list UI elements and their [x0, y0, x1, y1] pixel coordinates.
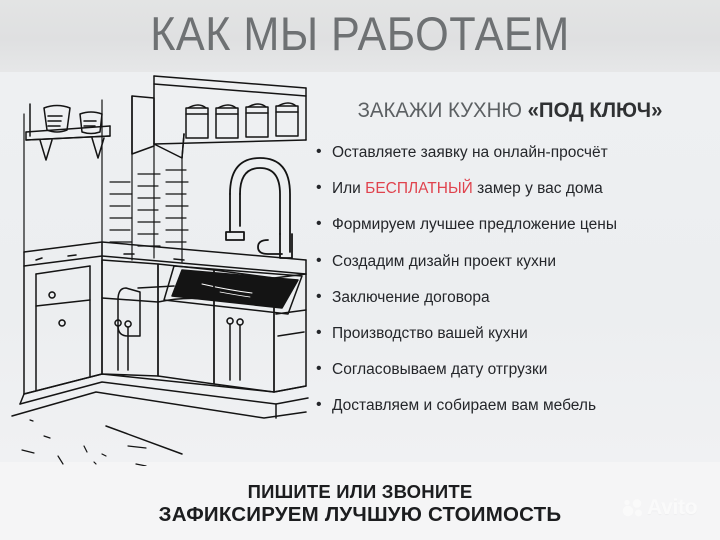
subtitle-bold: «ПОД КЛЮЧ»: [528, 99, 663, 122]
avito-logo-icon: [622, 498, 644, 518]
floor: [12, 374, 308, 454]
step-text-prefix: Или: [332, 180, 365, 197]
cta-line-2: ЗАФИКСИРУЕМ ЛУЧШУЮ СТОИМОСТЬ: [0, 503, 720, 526]
list-item: Согласовываем дату отгрузки: [316, 361, 716, 379]
subtitle: ЗАКАЖИ КУХНЮ «ПОД КЛЮЧ»: [318, 98, 702, 124]
step-text: Создадим дизайн проект кухни: [332, 253, 556, 270]
step-text: Согласовываем дату отгрузки: [332, 361, 547, 378]
step-text-highlight: БЕСПЛАТНЫЙ: [365, 180, 473, 197]
poster-canvas: КАК МЫ РАБОТАЕМ: [0, 0, 720, 540]
avito-watermark: Avito: [622, 496, 697, 520]
step-text: Производство вашей кухни: [332, 325, 528, 342]
step-text: Заключение договора: [332, 289, 490, 306]
list-item: Производство вашей кухни: [316, 325, 716, 343]
jar-row: [186, 103, 298, 138]
subtitle-regular: ЗАКАЖИ КУХНЮ: [358, 99, 528, 122]
upper-shelf-unit: [132, 76, 306, 158]
call-to-action: ПИШИТЕ ИЛИ ЗВОНИТЕ ЗАФИКСИРУЕМ ЛУЧШУЮ СТ…: [0, 480, 720, 526]
list-item: Доставляем и собираем вам мебель: [316, 397, 716, 415]
wall-tiles: [102, 100, 188, 264]
faucet: [226, 158, 292, 258]
list-item: Создадим дизайн проект кухни: [316, 253, 716, 271]
list-item: Формируем лучшее предложение цены: [316, 216, 716, 234]
cta-line-1: ПИШИТЕ ИЛИ ЗВОНИТЕ: [0, 480, 720, 503]
step-text-suffix: замер у вас дома: [473, 180, 603, 197]
list-item: Оставляете заявку на онлайн-просчёт: [316, 144, 716, 162]
step-text: Формируем лучшее предложение цены: [332, 216, 617, 233]
base-cabinets: [24, 256, 306, 394]
floor-marks: [22, 420, 146, 466]
process-steps-list: Оставляете заявку на онлайн-просчёт Или …: [316, 144, 716, 434]
list-item: Или БЕСПЛАТНЫЙ замер у вас дома: [316, 180, 716, 198]
step-text: Доставляем и собираем вам мебель: [332, 397, 596, 414]
step-text: Оставляете заявку на онлайн-просчёт: [332, 144, 608, 161]
list-item: Заключение договора: [316, 289, 716, 307]
avito-watermark-label: Avito: [647, 496, 697, 520]
page-title: КАК МЫ РАБОТАЕМ: [29, 6, 691, 62]
kitchen-illustration: [6, 74, 312, 466]
